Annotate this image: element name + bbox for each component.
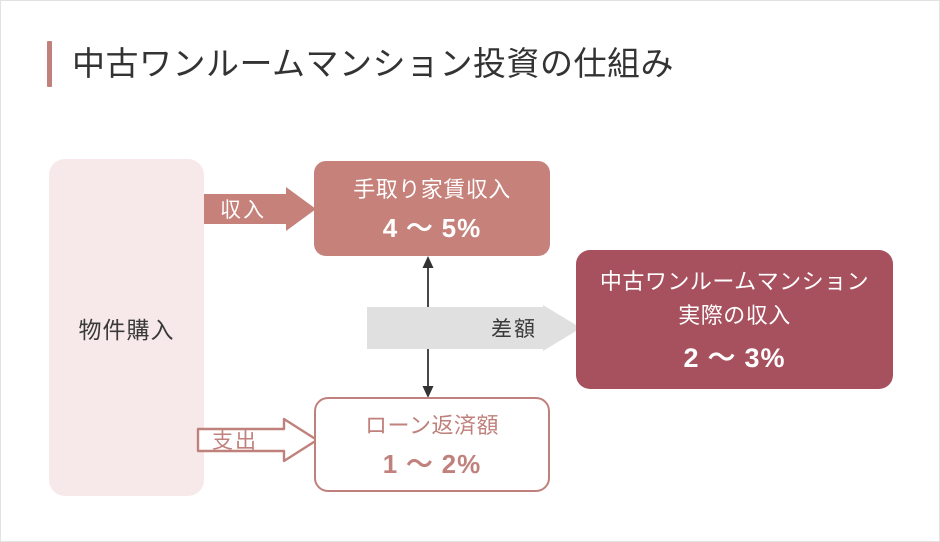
actual-income-value: 2 〜 3%	[683, 336, 785, 375]
loan-repayment-box: ローン返済額 1 〜 2%	[314, 397, 550, 492]
difference-arrow-shape	[367, 305, 581, 351]
difference-arrow: 差額	[367, 305, 581, 351]
purchase-box-label: 物件購入	[79, 311, 175, 345]
rent-income-box: 手取り家賃収入 4 〜 5%	[314, 161, 550, 256]
actual-income-box: 中古ワンルームマンション 実際の収入 2 〜 3%	[576, 250, 893, 389]
expense-arrow: 支出	[196, 416, 320, 464]
diagram-canvas: 中古ワンルームマンション投資の仕組み 物件購入 収入 支出 手取り家賃収入 4 …	[0, 0, 940, 542]
loan-repayment-value: 1 〜 2%	[383, 444, 482, 481]
rent-income-title: 手取り家賃収入	[353, 172, 511, 204]
title-row: 中古ワンルームマンション投資の仕組み	[47, 39, 674, 89]
page-title: 中古ワンルームマンション投資の仕組み	[72, 46, 674, 82]
actual-income-title-line1: 中古ワンルームマンション	[600, 264, 869, 296]
difference-arrow-label: 差額	[491, 313, 537, 343]
actual-income-title-line2: 実際の収入	[678, 298, 791, 330]
purchase-box: 物件購入	[49, 159, 204, 496]
title-accent-bar	[47, 41, 52, 87]
income-arrow-label: 収入	[220, 194, 266, 224]
rent-income-value: 4 〜 5%	[383, 208, 482, 245]
income-arrow: 収入	[204, 187, 316, 231]
expense-arrow-label: 支出	[212, 425, 258, 455]
loan-repayment-title: ローン返済額	[365, 408, 499, 440]
